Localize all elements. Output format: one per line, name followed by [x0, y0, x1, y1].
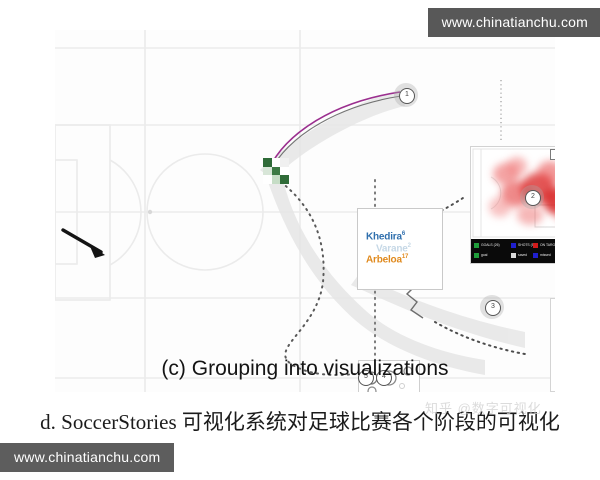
panel-c-label: (c) Grouping into visualizations — [55, 357, 555, 381]
legend-label-missed: missed — [540, 253, 551, 257]
watermark-bottom: www.chinatianchu.com — [0, 443, 174, 472]
shot-heatmap-panel[interactable]: GOALS (26) goal SHOTS (59) saved ON TARG… — [470, 146, 555, 264]
legend-swatch-goals — [474, 243, 479, 248]
legend-label-ontarget: ON TARGET (20) — [540, 243, 555, 247]
legend-label-saved: saved — [518, 253, 527, 257]
player-name-text: Arbeloa — [366, 254, 402, 265]
player-names-card[interactable]: Khedira6 Varane2 Arbeloa17 — [357, 208, 443, 290]
player-number: 17 — [402, 254, 408, 260]
green-mosaic-block[interactable] — [263, 158, 289, 184]
player-name-1: Varane2 — [376, 243, 411, 254]
node-marker-2[interactable]: 2 — [525, 190, 541, 206]
legend-label-goal: goal — [481, 253, 487, 257]
figure-canvas: Khedira6 Varane2 Arbeloa17 — [55, 30, 555, 392]
legend-swatch-ontarget — [533, 243, 538, 248]
legend-swatch-shots — [511, 243, 516, 248]
legend-swatch-goal — [474, 253, 479, 258]
legend-label-goals: GOALS (26) — [481, 243, 500, 247]
player-name-text: Varane — [376, 243, 408, 254]
zhihu-watermark: 知乎 @数字可视化 — [425, 398, 542, 417]
player-name-text: Khedira — [366, 231, 402, 242]
player-number: 2 — [408, 243, 411, 249]
node-marker-3[interactable]: 3 — [485, 300, 501, 316]
player-name-2: Arbeloa17 — [366, 254, 408, 265]
heatmap-legend: GOALS (26) goal SHOTS (59) saved ON TARG… — [471, 239, 555, 263]
legend-swatch-saved — [511, 253, 516, 258]
legend-swatch-missed — [533, 253, 538, 258]
player-number: 6 — [402, 231, 405, 237]
watermark-top: www.chinatianchu.com — [428, 8, 600, 37]
player-name-0: Khedira6 — [366, 231, 405, 242]
node-marker-1[interactable]: 1 — [399, 88, 415, 104]
